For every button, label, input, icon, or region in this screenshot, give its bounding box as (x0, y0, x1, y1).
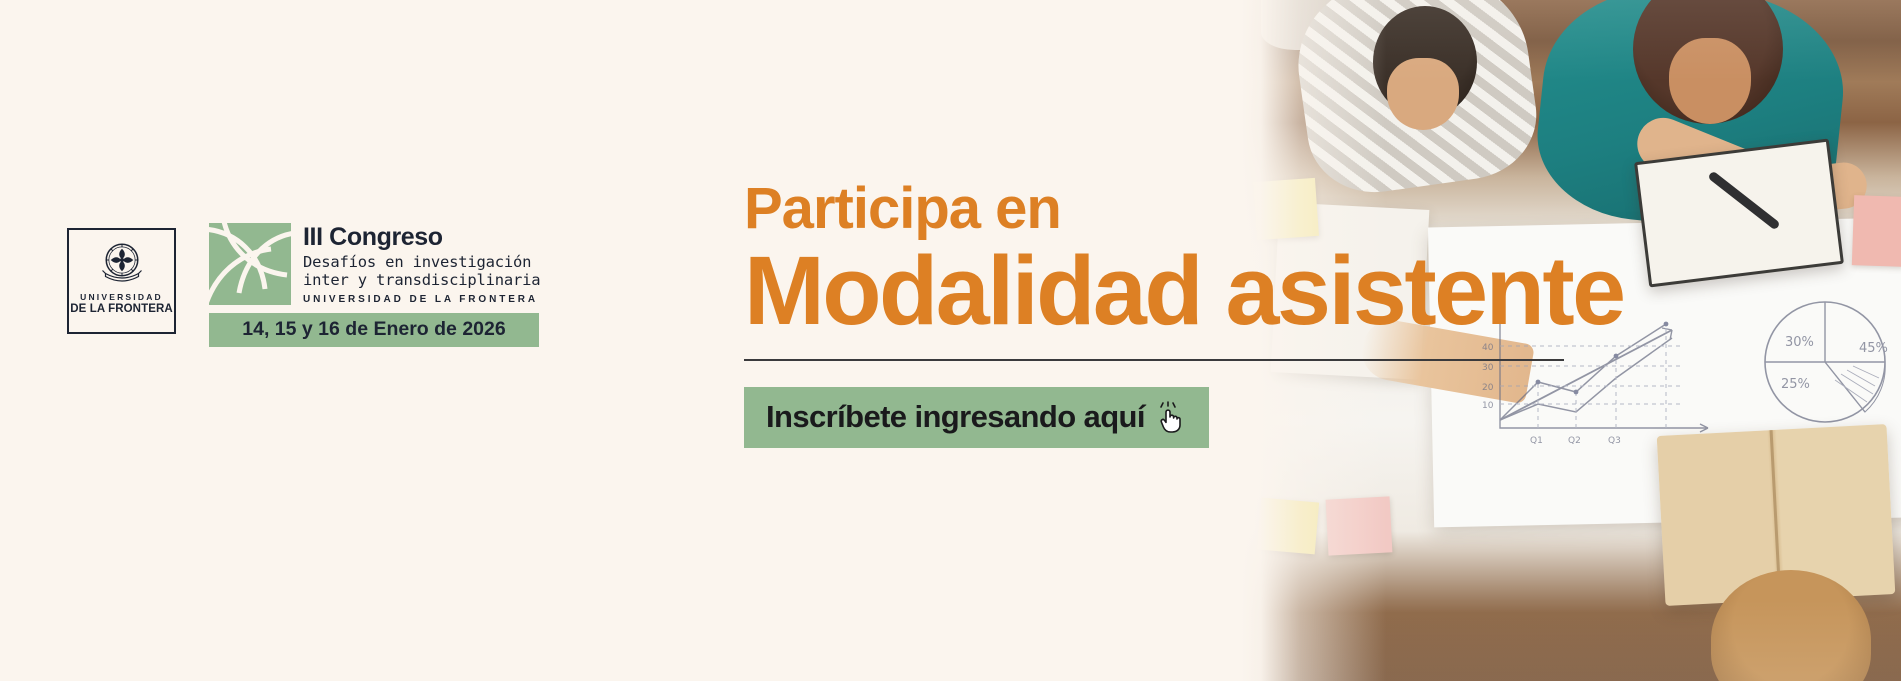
register-cta-button[interactable]: Inscríbete ingresando aquí (744, 387, 1209, 448)
svg-text:Q3: Q3 (1608, 436, 1621, 446)
svg-text:30%: 30% (1785, 335, 1814, 350)
pointing-hand-cursor-icon (1157, 401, 1187, 433)
register-cta-label: Inscríbete ingresando aquí (766, 399, 1145, 435)
university-name-line1: UNIVERSIDAD (80, 292, 163, 302)
congress-subtitle-line2: inter y transdisciplinaria (303, 272, 540, 290)
promo-kicker: Participa en (744, 180, 1564, 238)
person-right-face (1669, 38, 1751, 124)
congress-lockup: III Congreso Desafíos en investigación i… (209, 223, 540, 347)
congress-subtitle-line1: Desafíos en investigación (303, 254, 540, 272)
congress-arcs-mark-icon (209, 223, 291, 305)
congress-dates-band: 14, 15 y 16 de Enero de 2026 (209, 313, 539, 347)
sticky-note (1852, 195, 1901, 267)
sketched-pie-chart: 30% 45% 25% (1741, 290, 1901, 440)
svg-text:45%: 45% (1859, 341, 1888, 356)
university-logo: UNIVERSIDAD DE LA FRONTERA (67, 228, 176, 334)
svg-text:Q2: Q2 (1568, 436, 1581, 446)
sticky-note (1326, 496, 1393, 555)
promo-copy: Participa en Modalidad asistente Inscríb… (744, 180, 1564, 448)
congress-title: III Congreso (303, 225, 540, 250)
sticky-note (1257, 498, 1319, 555)
svg-text:25%: 25% (1781, 377, 1810, 392)
open-notebook (1634, 139, 1844, 288)
congress-university-label: UNIVERSIDAD DE LA FRONTERA (303, 294, 540, 305)
promo-headline: Modalidad asistente (744, 242, 1564, 341)
promo-banner: 1020 3040 Q1Q2 Q3Q4 30% 45% 25% (0, 0, 1901, 681)
divider-rule (744, 359, 1564, 361)
person-left-face (1387, 58, 1459, 130)
university-name-line2: DE LA FRONTERA (70, 303, 173, 315)
ufro-crest-icon (98, 239, 146, 287)
